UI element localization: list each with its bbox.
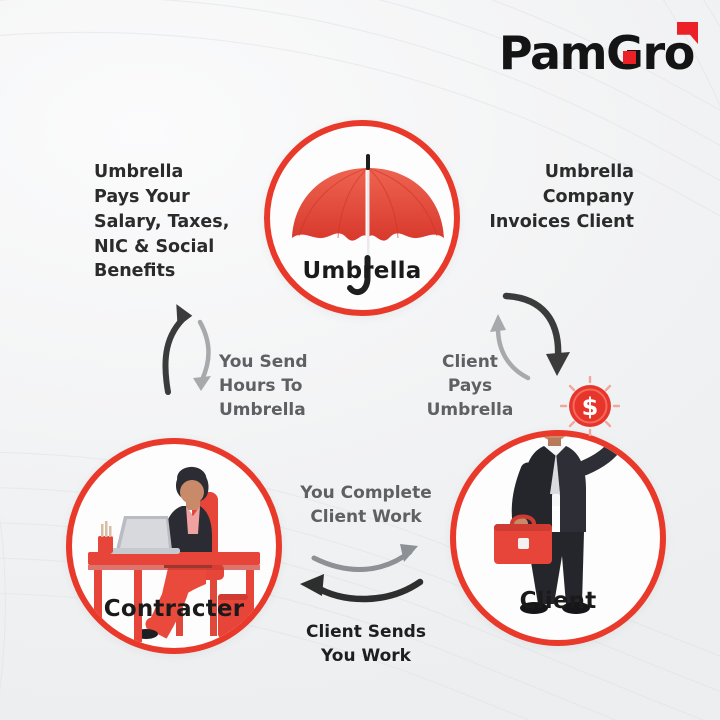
infographic-canvas: PamGro Umbrella Pays Your Salary, Taxes,… <box>0 0 720 720</box>
node-contractor[interactable]: Contracter <box>66 438 282 654</box>
caption-client-pays: Client Pays Umbrella <box>415 350 525 422</box>
arrow-pair-contractor-client <box>292 542 444 612</box>
dollar-coin-icon: $ <box>560 376 620 436</box>
caption-umbrella-pays: Umbrella Pays Your Salary, Taxes, NIC & … <box>94 160 274 284</box>
logo-g-notch-icon <box>623 51 636 64</box>
node-label-umbrella: Umbrella <box>270 258 454 284</box>
node-umbrella[interactable]: Umbrella <box>264 120 460 316</box>
brand-wordmark: PamGro <box>499 24 694 82</box>
dollar-symbol: $ <box>582 393 599 421</box>
brand-logo: PamGro <box>499 24 694 86</box>
node-label-client: Client <box>456 588 660 614</box>
caption-you-complete-work: You Complete Client Work <box>280 481 452 529</box>
node-client[interactable]: Client <box>450 430 666 646</box>
node-label-contractor: Contracter <box>72 596 276 622</box>
caption-you-send-hours: You Send Hours To Umbrella <box>219 350 339 422</box>
caption-client-sends-work: Client Sends You Work <box>280 620 452 668</box>
curved-arrow-right-icon <box>292 542 444 612</box>
caption-umbrella-invoices: Umbrella Company Invoices Client <box>444 160 634 235</box>
